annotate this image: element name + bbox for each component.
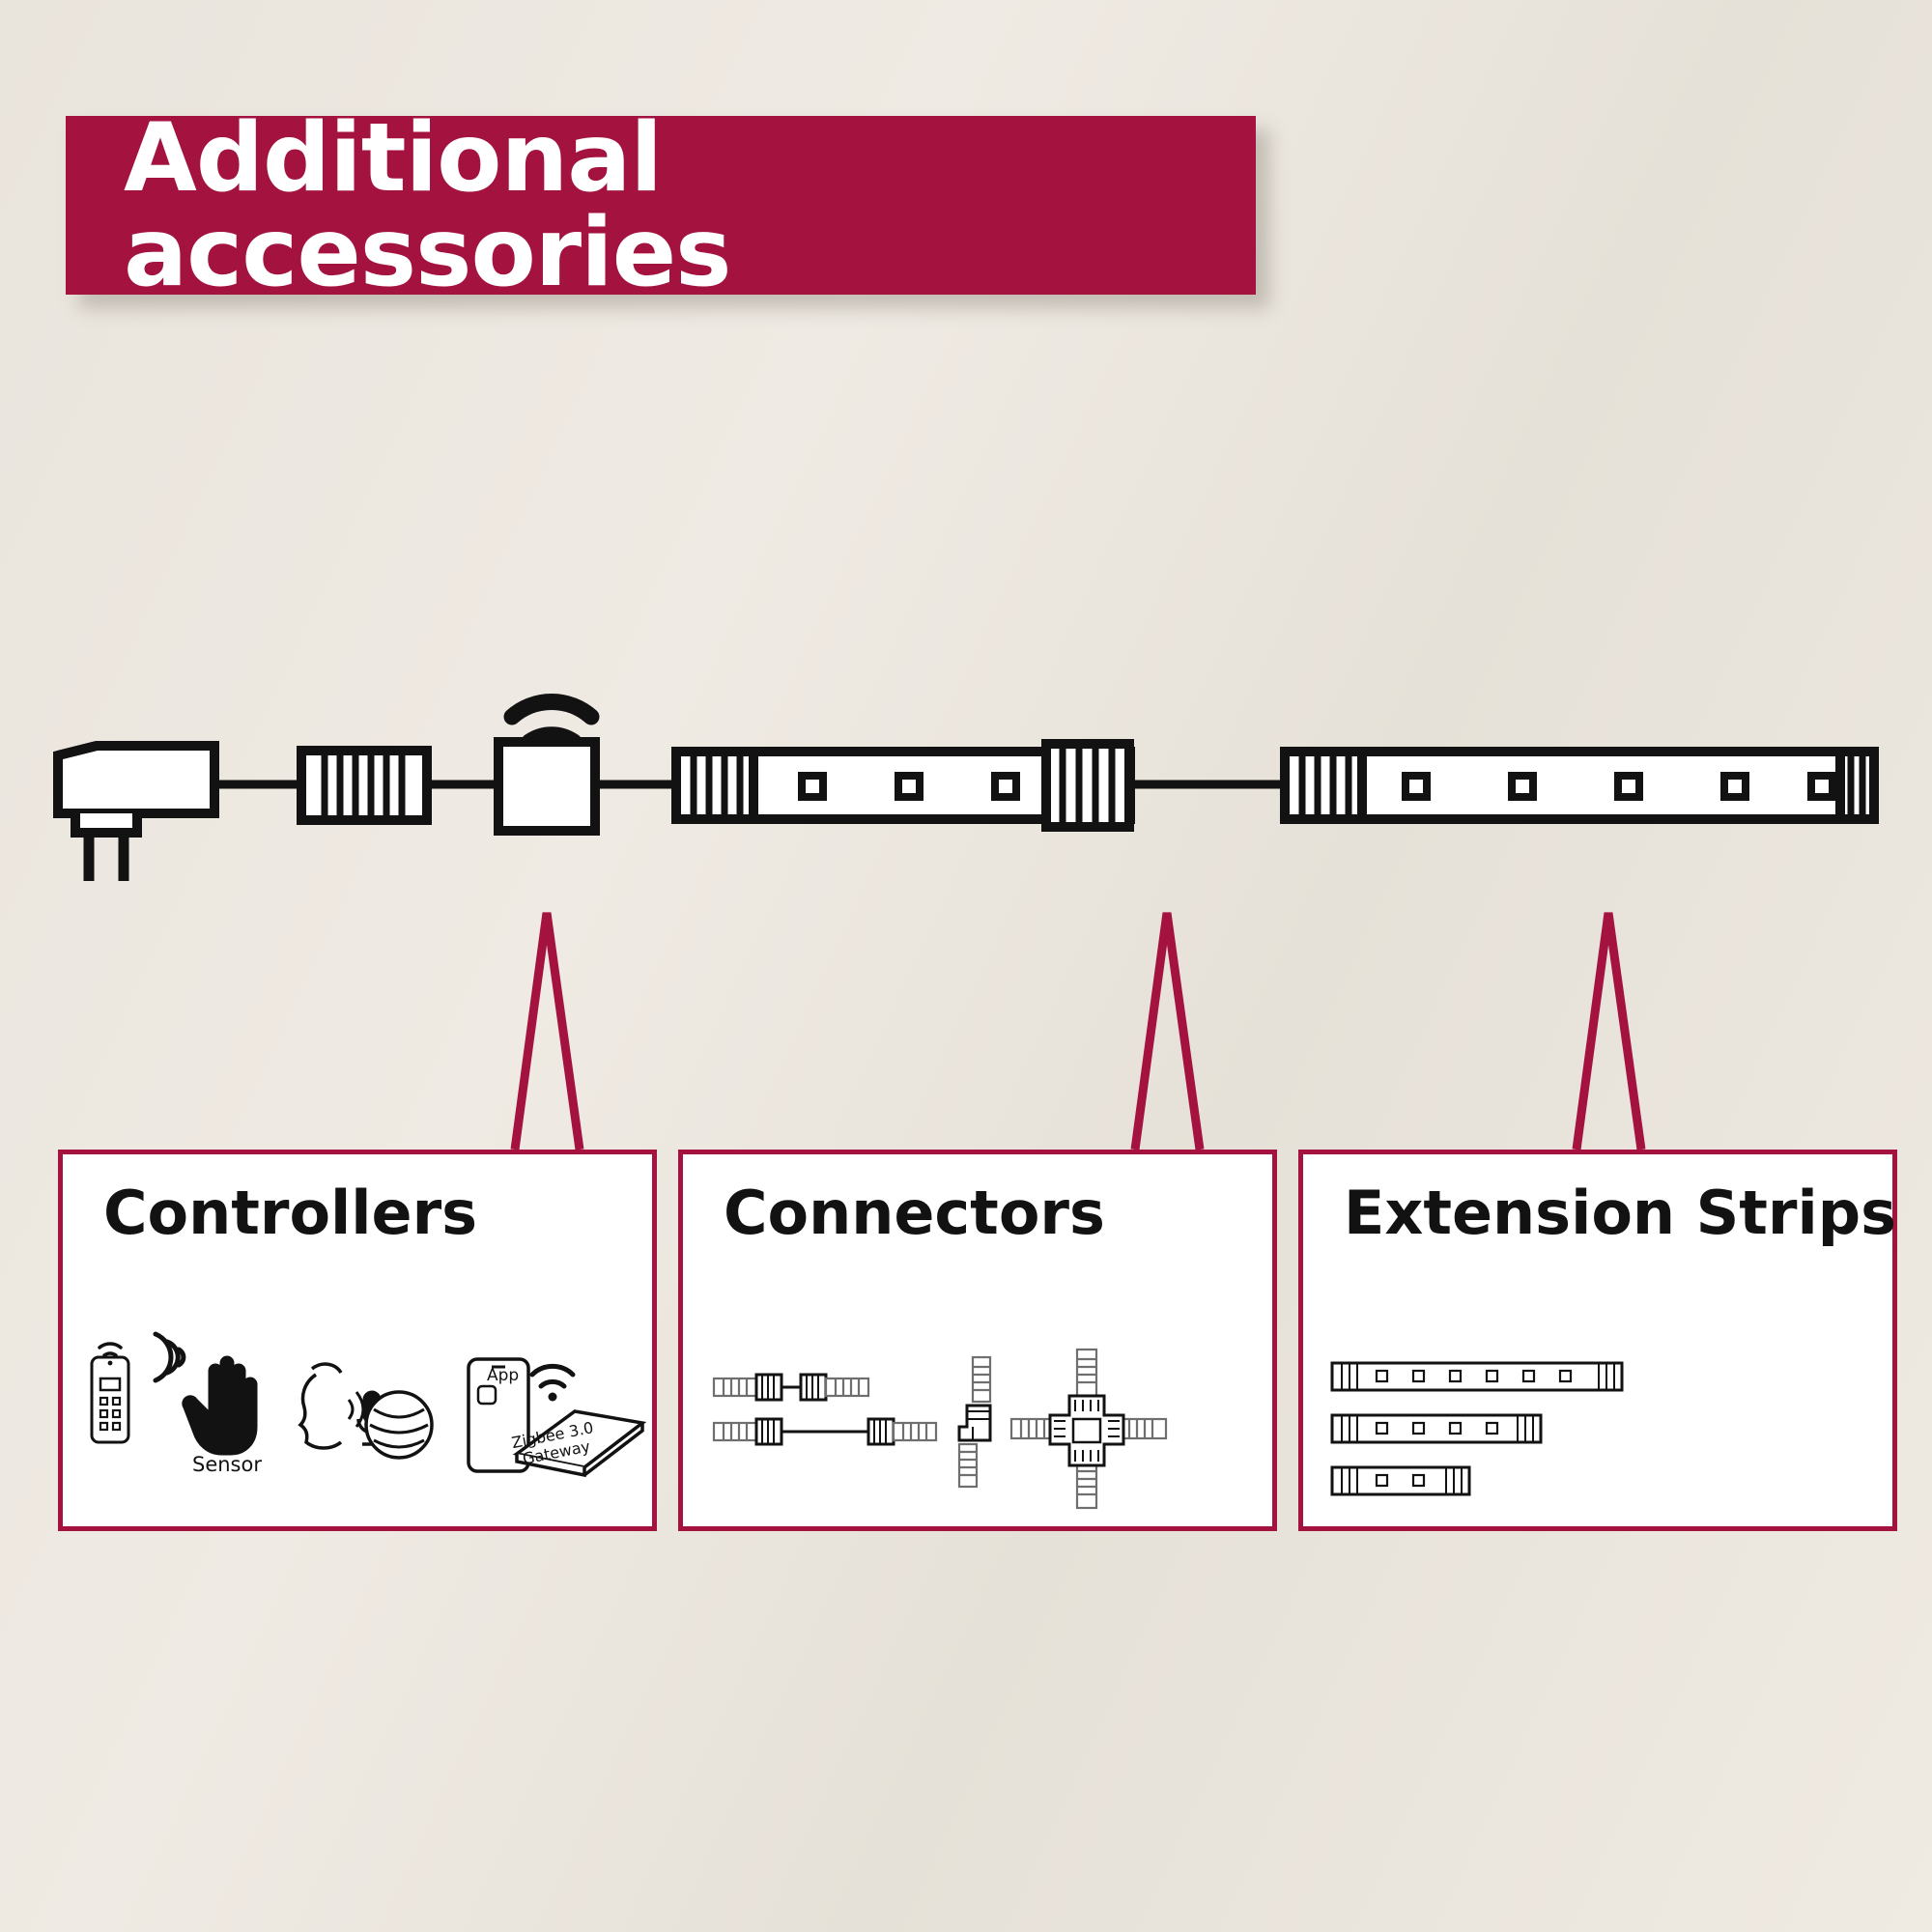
led-strip-long	[1285, 752, 1874, 819]
diagram-stage	[0, 0, 1932, 1932]
card-connectors-title: Connectors	[724, 1183, 1272, 1243]
card-controllers[interactable]: Controllers	[58, 1150, 657, 1531]
card-extension-strips[interactable]: Extension Strips	[1298, 1150, 1897, 1531]
cross-connector-icon	[1011, 1350, 1166, 1508]
wifi-signal-small-icon	[532, 1366, 573, 1401]
strip-connector	[1046, 744, 1129, 827]
strip-to-strip-connector-icon	[714, 1375, 936, 1444]
inline-connector-1	[301, 751, 427, 820]
pointer-extension	[1577, 913, 1641, 1150]
card-controllers-art: Sensor	[63, 1299, 652, 1531]
motion-sensor-icon	[156, 1334, 256, 1454]
extension-strip-medium-icon	[1332, 1415, 1541, 1442]
voice-assistant-icon	[300, 1364, 432, 1458]
extension-strip-short-icon	[1332, 1467, 1469, 1494]
card-connectors[interactable]: Connectors	[678, 1150, 1277, 1531]
card-controllers-title: Controllers	[103, 1183, 652, 1243]
card-extension-title: Extension Strips	[1344, 1183, 1892, 1243]
pointer-connectors	[1135, 913, 1200, 1150]
extension-strip-long-icon	[1332, 1363, 1622, 1390]
pointer-controllers	[515, 913, 580, 1150]
corner-connector-icon	[959, 1357, 990, 1487]
controller-box	[498, 742, 595, 831]
sensor-label: Sensor	[192, 1453, 262, 1476]
card-extension-art	[1303, 1299, 1892, 1531]
power-supply-plug	[58, 746, 214, 881]
card-connectors-art	[683, 1299, 1272, 1531]
remote-control-icon	[92, 1344, 128, 1442]
app-label: App	[487, 1366, 519, 1385]
